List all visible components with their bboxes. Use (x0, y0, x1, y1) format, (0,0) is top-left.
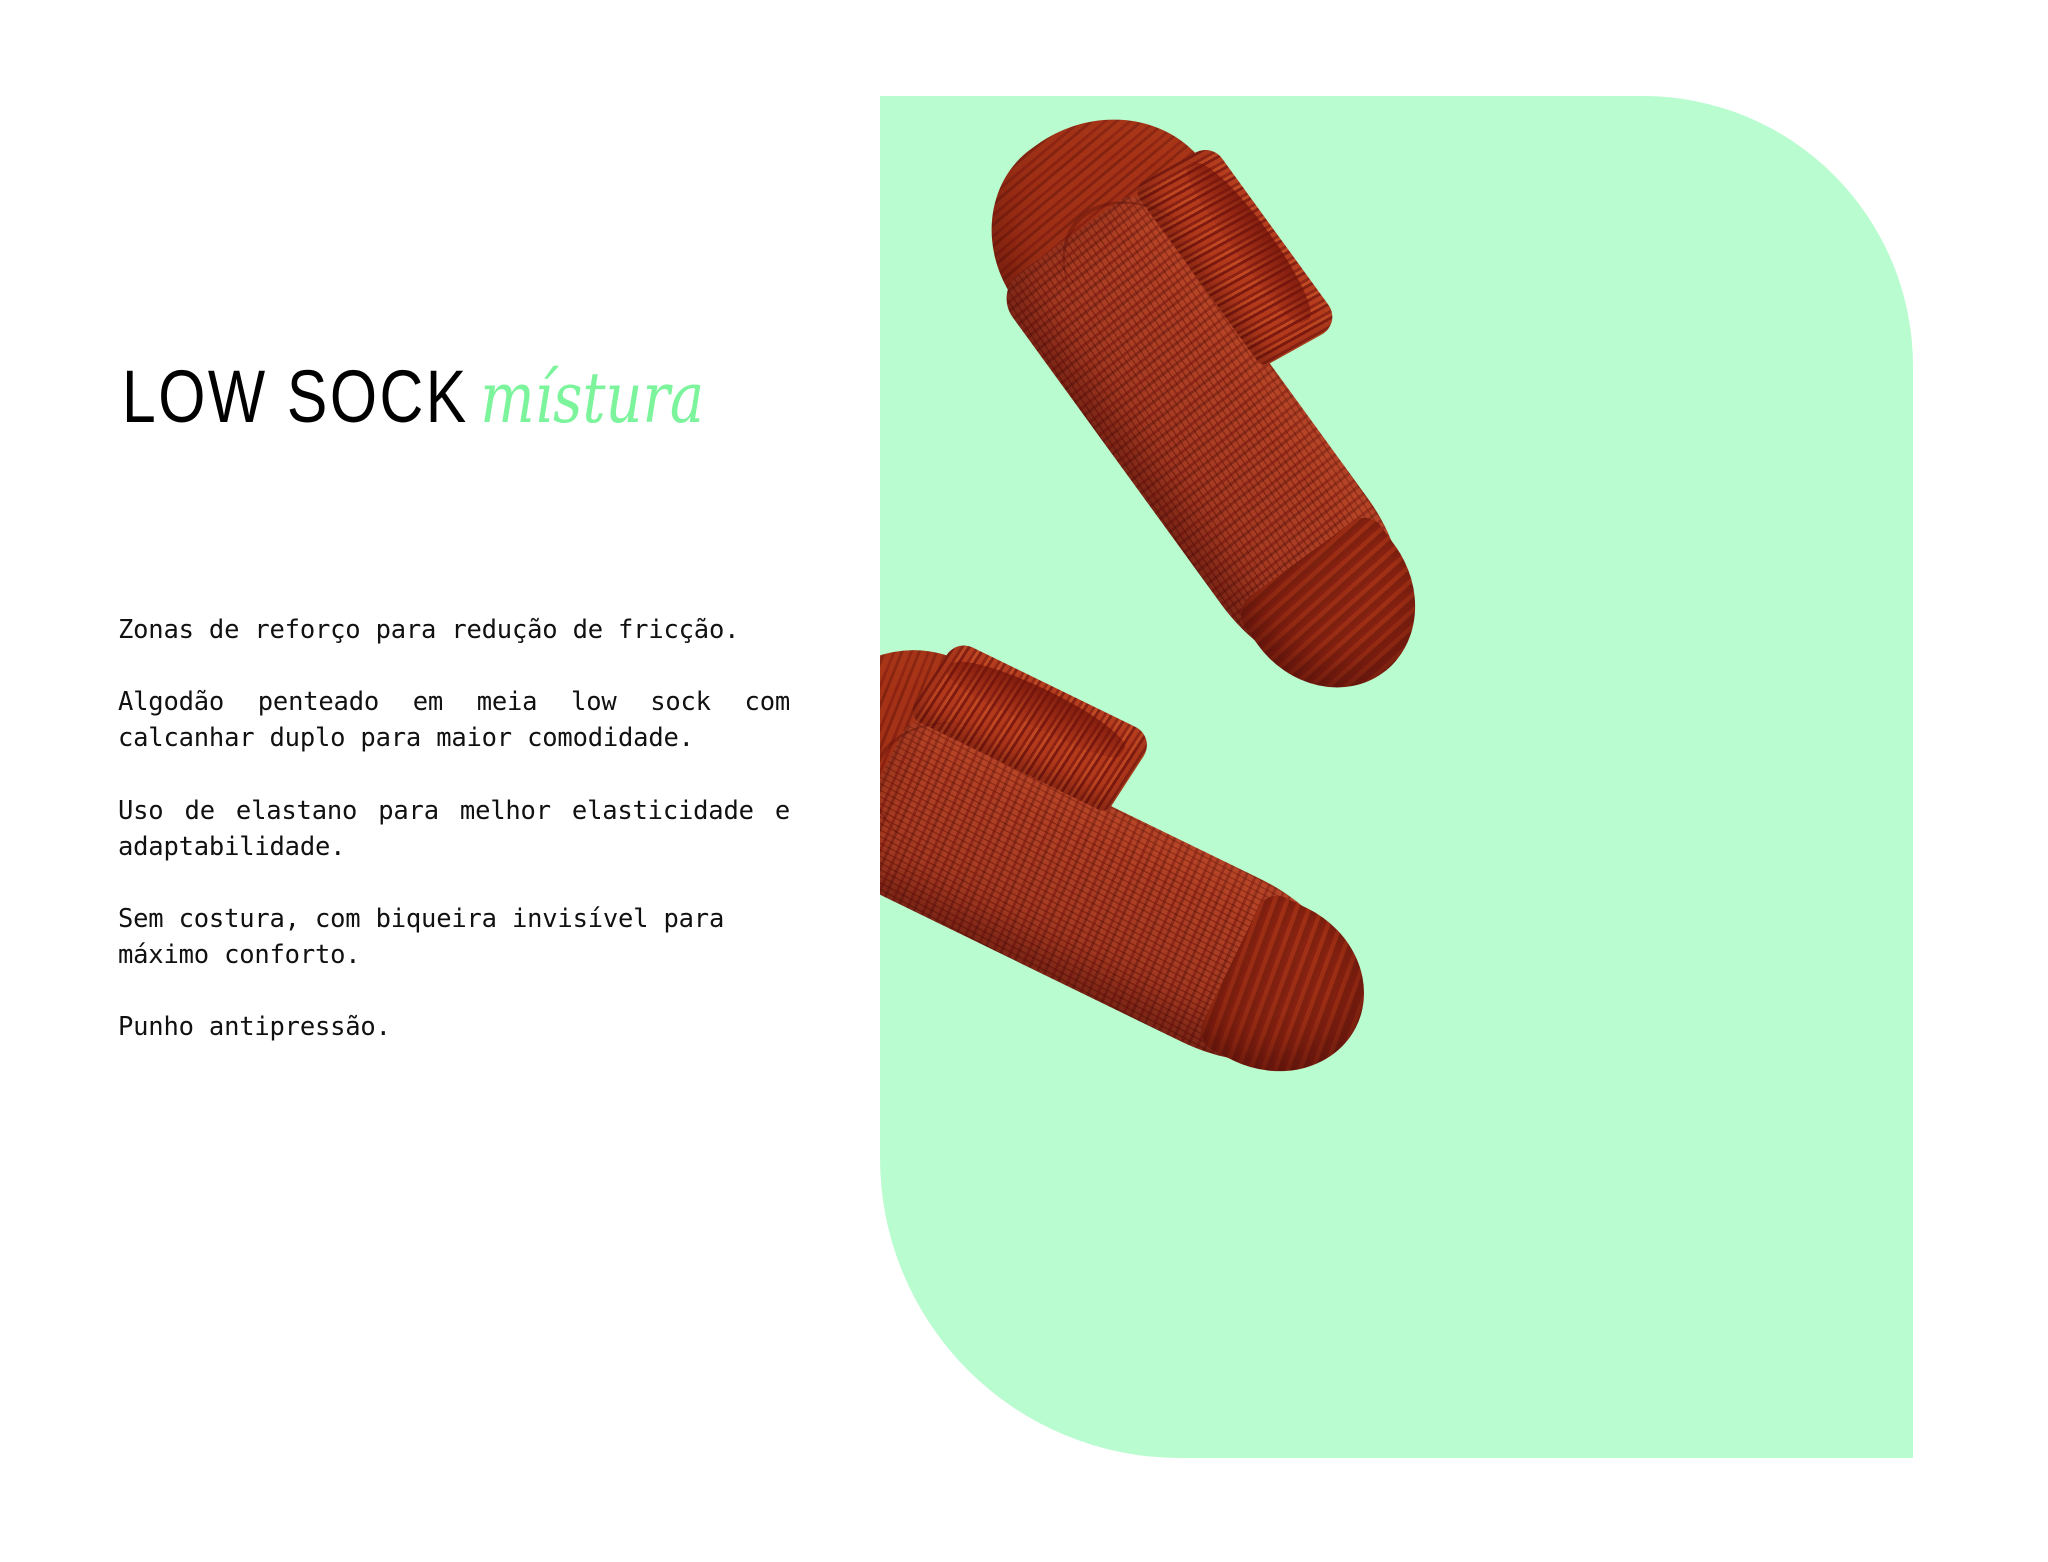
product-heading-block: LOW SOCKmístura (118, 360, 808, 434)
page-title: LOW SOCKmístura (122, 360, 685, 434)
product-title-main: LOW SOCK (122, 355, 469, 438)
feature-item-combed-cotton: Algodão penteado em meia low sock com ca… (118, 684, 790, 756)
feature-item-reinforcement: Zonas de reforço para redução de fricção… (118, 612, 790, 648)
product-sheet-page: LOW SOCKmístura Zonas de reforço para re… (0, 0, 2048, 1562)
product-image (880, 96, 1913, 1458)
feature-list: Zonas de reforço para redução de fricção… (118, 612, 790, 1046)
product-title-script: místura (480, 357, 704, 439)
feature-item-cuff: Punho antipressão. (118, 1009, 790, 1045)
product-photo-panel (880, 96, 1913, 1458)
feature-item-elastane: Uso de elastano para melhor elasticidade… (118, 793, 790, 865)
feature-item-seamless-toe: Sem costura, com biqueira invisível para… (118, 901, 790, 973)
sock-upper (922, 96, 1527, 736)
